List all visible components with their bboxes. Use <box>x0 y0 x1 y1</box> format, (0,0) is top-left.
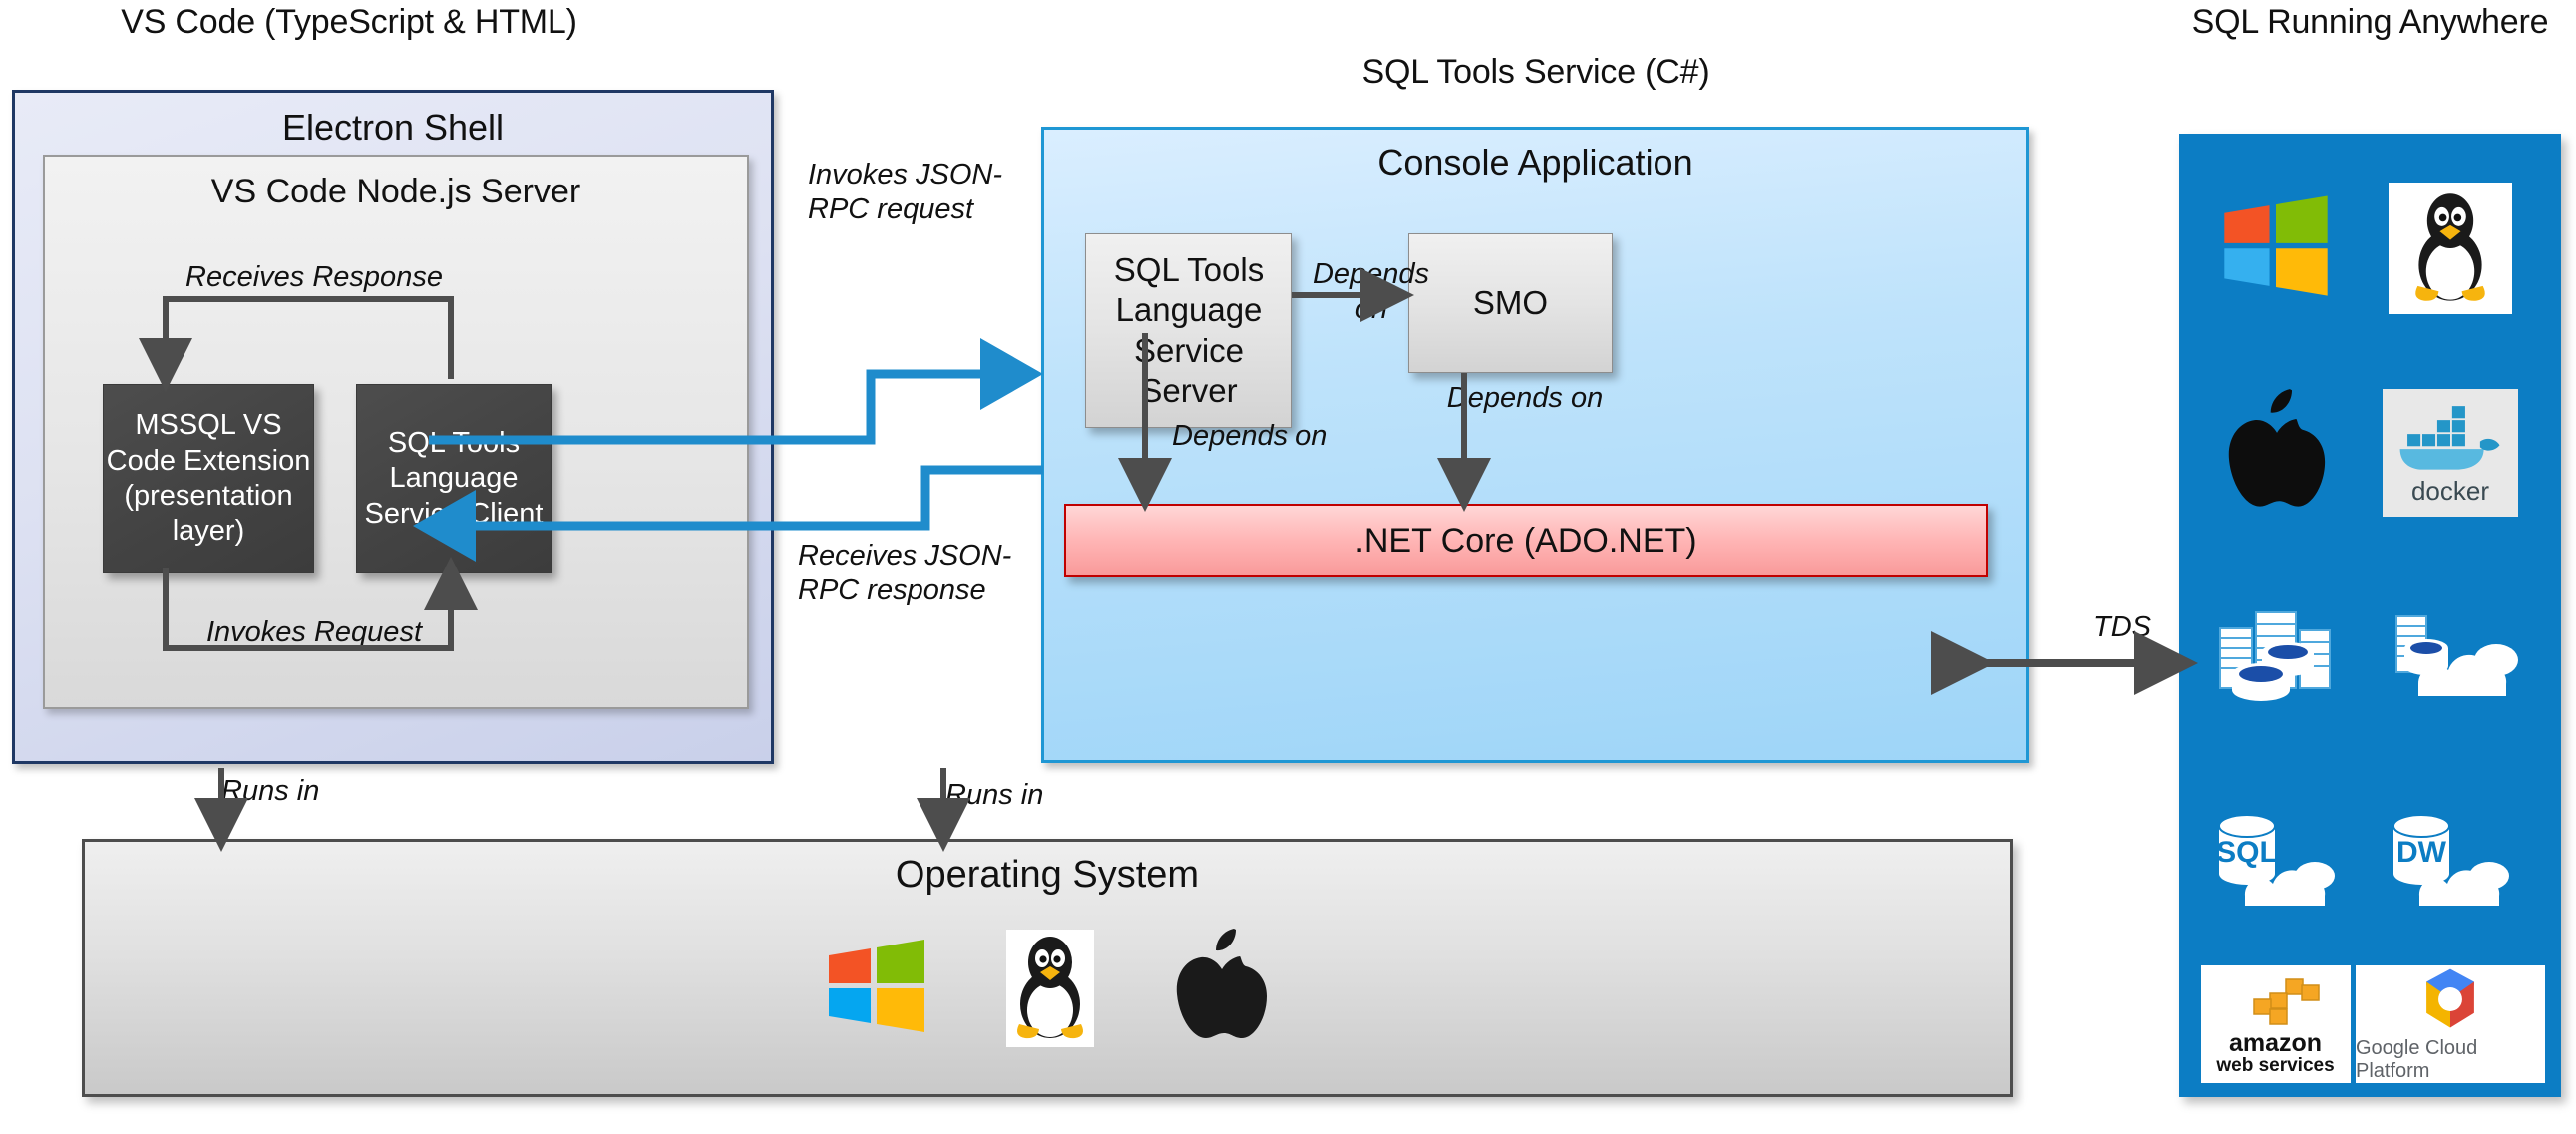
caption-vscode: VS Code (TypeScript & HTML) <box>0 2 698 42</box>
caption-sql-tools-service: SQL Tools Service (C#) <box>1057 52 2015 92</box>
mssql-vscode-extension-box[interactable]: MSSQL VS Code Extension (presentation la… <box>103 384 314 573</box>
label-service-runs-in: Runs in <box>945 778 1145 813</box>
label-depends-on-netcore-from-smo: Depends on <box>1405 381 1645 416</box>
google-cloud-platform-logo-icon: Google Cloud Platform <box>2356 965 2545 1083</box>
electron-shell-title: Electron Shell <box>15 107 771 149</box>
label-depends-on-smo: Depends on <box>1311 257 1431 327</box>
console-application-title: Console Application <box>1044 142 2026 184</box>
gcp-label: Google Cloud Platform <box>2356 1037 2545 1083</box>
net-core-ado-net-box[interactable]: .NET Core (ADO.NET) <box>1064 504 1988 577</box>
apple-logo-icon <box>2223 387 2329 518</box>
label-depends-on-netcore-from-server: Depends on <box>1172 419 1411 454</box>
aws-sublabel: web services <box>2216 1056 2334 1076</box>
linux-tux-icon <box>1006 930 1094 1047</box>
amazon-web-services-logo-icon: amazon web services <box>2201 965 2351 1083</box>
vscode-node-server-container: VS Code Node.js Server MSSQL VS Code Ext… <box>43 155 749 709</box>
linux-tux-icon <box>2389 183 2512 314</box>
caption-sql-running-anywhere: SQL Running Anywhere <box>2179 2 2561 42</box>
svg-text:DW: DW <box>2396 836 2447 869</box>
operating-system-title: Operating System <box>85 854 2010 897</box>
label-tds: TDS <box>2062 610 2182 645</box>
label-invokes-request: Invokes Request <box>145 615 484 650</box>
windows-logo-icon <box>2220 191 2332 304</box>
label-receives-json-rpc-response: Receives JSON- RPC response <box>798 539 1057 608</box>
label-receives-response: Receives Response <box>145 260 484 295</box>
azure-sql-data-warehouse-icon: DW <box>2378 804 2523 919</box>
console-application-container: Console Application SQL Tools Language S… <box>1041 127 2029 763</box>
label-invokes-json-rpc-request: Invokes JSON- RPC request <box>808 158 1057 227</box>
smo-box[interactable]: SMO <box>1408 233 1613 373</box>
hybrid-cloud-datacenter-icon <box>2381 600 2520 713</box>
apple-logo-icon <box>1172 927 1270 1049</box>
docker-logo-icon: docker <box>2383 389 2518 517</box>
vscode-node-server-title: VS Code Node.js Server <box>45 173 747 211</box>
electron-shell-container: Electron Shell VS Code Node.js Server MS… <box>12 90 774 764</box>
sql-running-anywhere-grid: docker <box>2195 148 2545 1083</box>
on-premises-datacenter-icon <box>2206 600 2346 713</box>
operating-system-icon-row <box>85 927 2010 1049</box>
sql-running-anywhere-panel: docker <box>2179 134 2561 1097</box>
sql-tools-language-service-server-box[interactable]: SQL Tools Language Service Server <box>1085 233 1292 428</box>
architecture-diagram: VS Code (TypeScript & HTML) SQL Tools Se… <box>0 0 2576 1134</box>
azure-sql-database-icon: SQL <box>2203 804 2349 919</box>
svg-text:SQL: SQL <box>2216 836 2278 869</box>
operating-system-bar: Operating System <box>82 839 2013 1097</box>
windows-logo-icon <box>825 936 928 1040</box>
label-vscode-runs-in: Runs in <box>221 774 421 809</box>
docker-logo-label: docker <box>2411 476 2489 507</box>
sql-tools-language-service-client-box[interactable]: SQL Tools Language Service Client <box>356 384 552 573</box>
